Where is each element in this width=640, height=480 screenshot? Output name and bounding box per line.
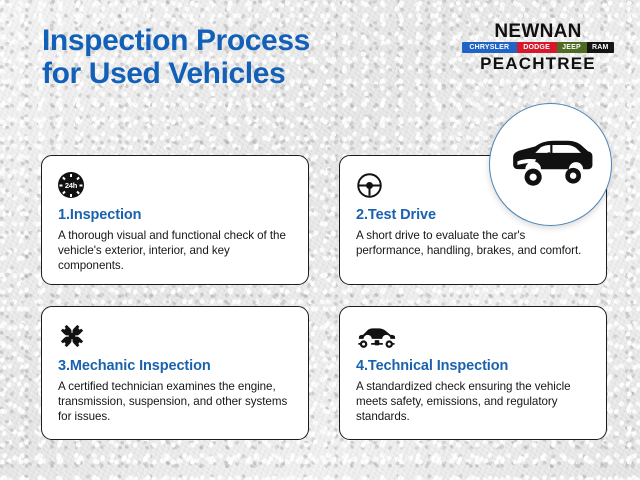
brand-dodge: DODGE xyxy=(517,42,557,53)
card-1-heading: 1.Inspection xyxy=(58,207,292,223)
clock-24h-icon: 24h xyxy=(58,172,84,198)
car-chassis-icon xyxy=(356,322,398,350)
step-card-mechanic-inspection: 3.Mechanic Inspection A certified techni… xyxy=(41,306,309,440)
brand-ram: RAM xyxy=(587,42,614,53)
card-4-heading: 4.Technical Inspection xyxy=(356,358,590,374)
step-card-technical-inspection: 4.Technical Inspection A standardized ch… xyxy=(339,306,607,440)
hero-vehicle-circle xyxy=(489,103,612,226)
brand-chrysler: CHRYSLER xyxy=(462,42,517,53)
card-3-heading: 3.Mechanic Inspection xyxy=(58,358,292,374)
card-4-body: A standardized check ensuring the vehicl… xyxy=(356,379,590,425)
card-3-icon-wrap xyxy=(58,321,292,351)
infographic-canvas: Inspection Process for Used Vehicles NEW… xyxy=(0,0,640,480)
clock-24h-label: 24h xyxy=(65,181,77,190)
card-1-body: A thorough visual and functional check o… xyxy=(58,228,292,274)
card-3-body: A certified technician examines the engi… xyxy=(58,379,292,425)
page-title: Inspection Process for Used Vehicles xyxy=(42,24,412,90)
steering-wheel-icon xyxy=(356,172,383,199)
brand-jeep: JEEP xyxy=(557,42,587,53)
page-title-line-2: for Used Vehicles xyxy=(42,57,412,90)
logo-brand-bar: CHRYSLER DODGE JEEP RAM xyxy=(462,42,614,53)
card-1-icon-wrap: 24h xyxy=(58,170,292,200)
dealer-logo: NEWNAN CHRYSLER DODGE JEEP RAM PEACHTREE xyxy=(462,22,614,73)
step-card-inspection: 24h 1.Inspection A thorough visual and f… xyxy=(41,155,309,285)
card-2-body: A short drive to evaluate the car's perf… xyxy=(356,228,590,258)
logo-top-word: NEWNAN xyxy=(462,22,614,41)
page-title-line-1: Inspection Process xyxy=(42,24,412,57)
crossed-wrenches-icon xyxy=(58,322,86,350)
logo-bottom-word: PEACHTREE xyxy=(462,54,614,73)
card-4-icon-wrap xyxy=(356,321,590,351)
suv-vehicle-icon xyxy=(508,135,594,195)
